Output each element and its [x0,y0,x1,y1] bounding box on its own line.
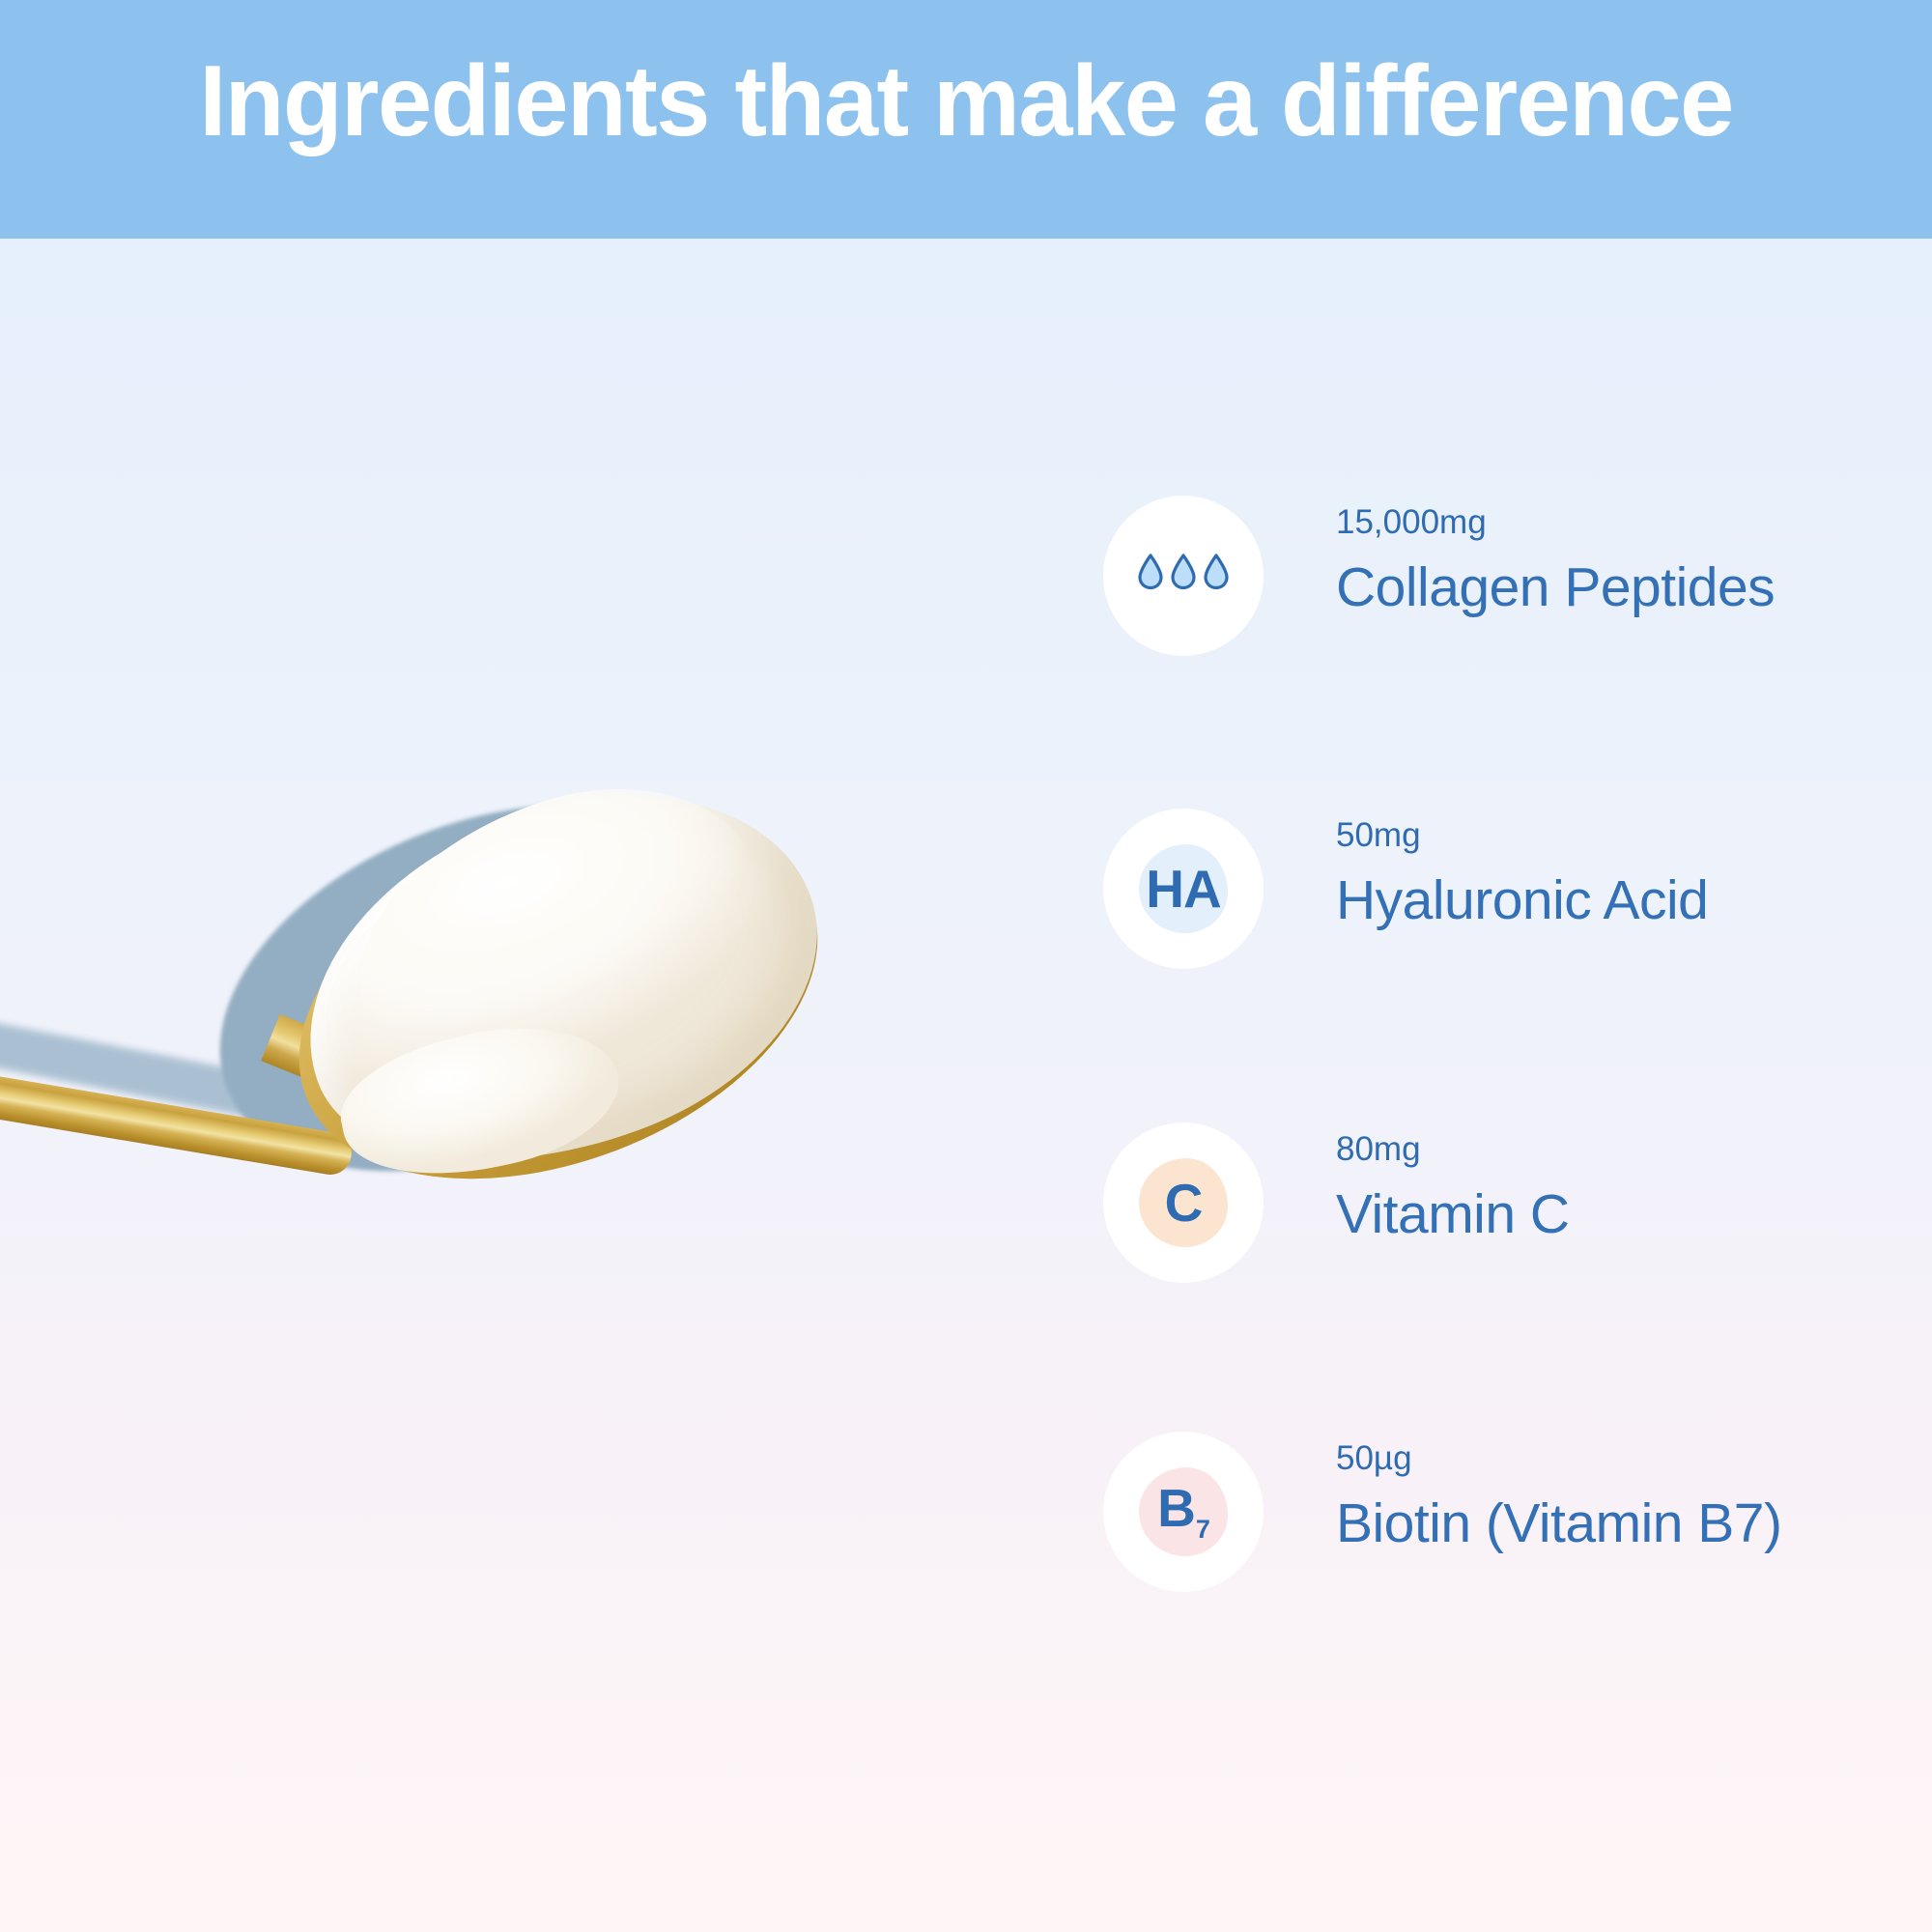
spoon-illustration [0,753,985,1256]
ingredient-badge-collagen [1103,496,1264,656]
ingredient-text: 50mg Hyaluronic Acid [1336,817,1906,930]
ingredient-row: B7 50µg Biotin (Vitamin B7) [1103,1432,1905,1592]
ingredient-row: 15,000mg Collagen Peptides [1103,496,1905,656]
ingredient-badge-hyaluronic-acid: HA [1103,809,1264,969]
ingredient-text: 15,000mg Collagen Peptides [1336,504,1906,617]
ingredient-row: C 80mg Vitamin C [1103,1122,1905,1283]
ingredient-badge-vitamin-c: C [1103,1122,1264,1283]
ingredient-name: Biotin (Vitamin B7) [1336,1493,1906,1554]
ingredient-text: 80mg Vitamin C [1336,1131,1906,1244]
ingredient-text: 50µg Biotin (Vitamin B7) [1336,1440,1906,1553]
ingredient-amount: 50µg [1336,1440,1906,1478]
ingredient-row: HA 50mg Hyaluronic Acid [1103,809,1905,969]
b7-subscript: 7 [1196,1515,1209,1544]
infographic-canvas: Ingredients that make a difference [0,0,1932,1932]
ingredient-amount: 15,000mg [1336,504,1906,542]
header-band: Ingredients that make a difference [0,0,1932,239]
ingredient-amount: 80mg [1336,1131,1906,1169]
water-droplets-icon [1136,553,1231,591]
ingredient-badge-biotin: B7 [1103,1432,1264,1592]
ingredient-name: Vitamin C [1336,1184,1906,1245]
vitamin-c-letter-icon: C [1165,1177,1203,1230]
biotin-b7-letter-icon: B7 [1157,1482,1209,1543]
ha-letters-icon: HA [1146,863,1220,916]
ingredient-name: Hyaluronic Acid [1336,870,1906,931]
ingredient-name: Collagen Peptides [1336,557,1906,618]
ingredient-amount: 50mg [1336,817,1906,855]
page-title: Ingredients that make a difference [29,44,1903,160]
